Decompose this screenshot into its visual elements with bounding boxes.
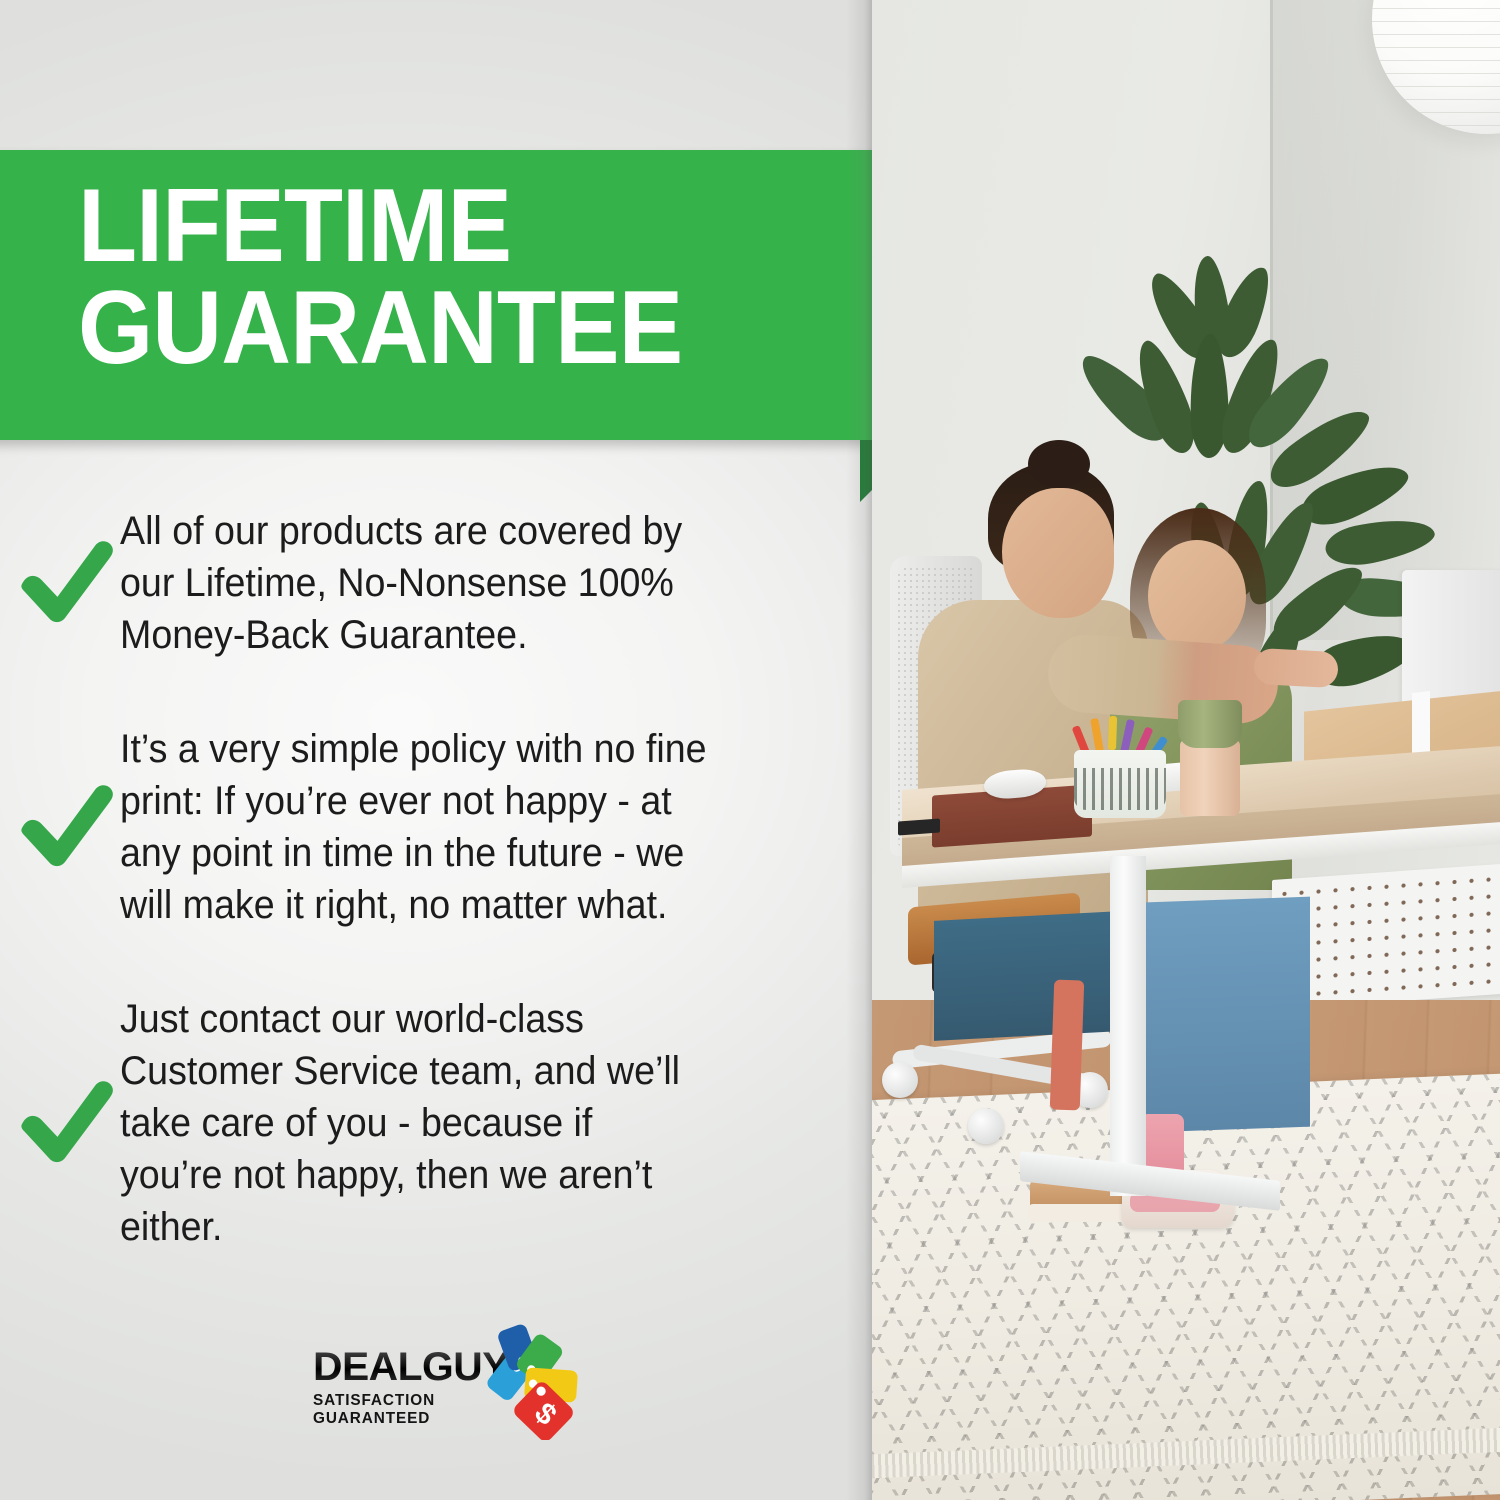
- vase-base: [1180, 740, 1240, 816]
- woman-hair-bun: [1028, 440, 1090, 488]
- girl-jeans: [1120, 897, 1310, 1134]
- promo-graphic: LIFETIME GUARANTEE All of our products a…: [0, 0, 1500, 1500]
- dealguys-logo: DEALGUYS SATISFACTION GUARANTEED: [313, 1315, 583, 1440]
- content-panel: LIFETIME GUARANTEE All of our products a…: [0, 0, 872, 1500]
- lifestyle-photo: [872, 0, 1500, 1500]
- chair-caster: [882, 1062, 918, 1098]
- woman-pointing-hand: [1253, 648, 1339, 688]
- banner-title: LIFETIME GUARANTEE: [78, 176, 822, 380]
- woman-face: [1002, 488, 1114, 618]
- price-tag-fan-icon: $: [473, 1315, 593, 1440]
- list-item-text: All of our products are covered by our L…: [120, 505, 827, 661]
- woman-jeans: [934, 911, 1120, 1041]
- green-check-icon: [0, 1068, 120, 1178]
- list-item: All of our products are covered by our L…: [0, 505, 872, 661]
- list-item: It’s a very simple policy with no fine p…: [0, 723, 872, 931]
- desk-leg-column: [1110, 856, 1146, 1196]
- green-check-icon: [0, 528, 120, 638]
- ribbon-fold-shape: [860, 440, 872, 502]
- girl-face: [1148, 540, 1246, 652]
- list-item-text: Just contact our world-class Customer Se…: [120, 993, 827, 1253]
- list-item: Just contact our world-class Customer Se…: [0, 993, 872, 1253]
- chair-caster: [968, 1108, 1004, 1144]
- green-check-icon: [0, 772, 120, 882]
- marker-cup-pattern: [1074, 768, 1166, 810]
- guarantee-bullet-list: All of our products are covered by our L…: [0, 505, 872, 1315]
- list-item-text: It’s a very simple policy with no fine p…: [120, 723, 827, 931]
- vase-top: [1178, 700, 1242, 748]
- woman-leg: [1050, 980, 1085, 1111]
- sandal-sole: [1028, 1204, 1130, 1222]
- woman-pointing-arm: [1046, 632, 1281, 726]
- phone-on-desk: [898, 819, 940, 836]
